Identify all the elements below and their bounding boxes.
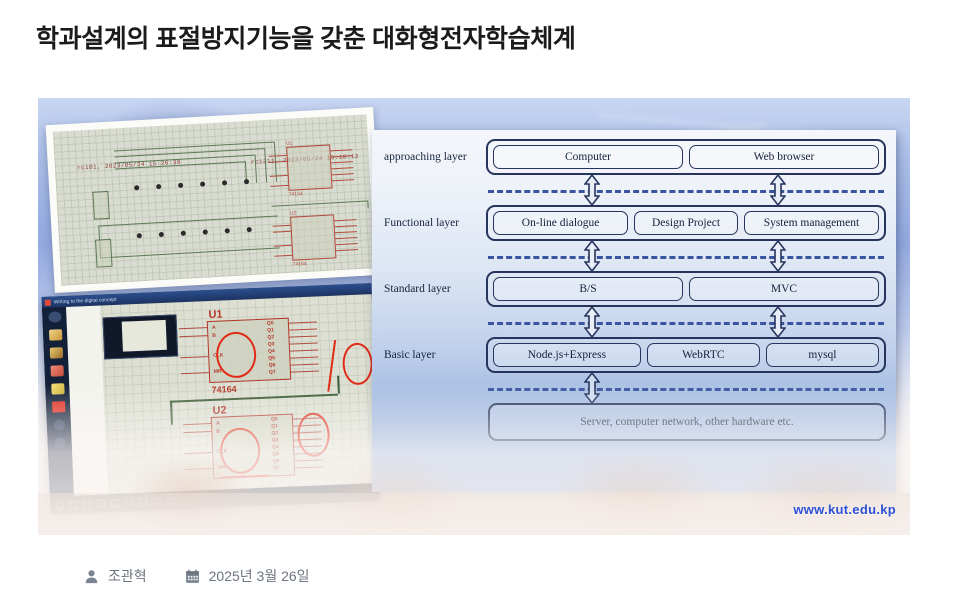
- dashed-separator-line: [488, 388, 884, 391]
- node-bs[interactable]: B/S: [493, 277, 683, 301]
- schematic-chip-u2: [290, 214, 336, 260]
- dashed-separator-line: [488, 190, 884, 193]
- chip-u2-output-q2: Q2: [271, 430, 278, 436]
- layer-row-approaching: approaching layer Computer Web browser: [382, 139, 886, 175]
- schematic-wire: [334, 219, 356, 221]
- zoom-in-tool-icon[interactable]: [53, 419, 64, 430]
- chip-u2-output-q0: Q0: [271, 416, 278, 422]
- chip-u1-output-q7: Q7: [269, 369, 276, 375]
- calendar-icon: [185, 569, 200, 584]
- schematic-wire: [274, 245, 292, 247]
- pen-tool-icon[interactable]: [48, 329, 61, 341]
- schematic-node: [203, 229, 208, 234]
- layer-group-basic: Node.js+Express WebRTC mysql: [486, 337, 886, 373]
- schematic-node: [225, 228, 230, 233]
- schematic-node: [244, 179, 249, 184]
- pencil-tool-icon[interactable]: [49, 347, 62, 359]
- schematic-node: [247, 227, 252, 232]
- schematic-canvas: rc101, 2023/05/24 15:26:30 rc1211, 2023/…: [53, 114, 375, 285]
- chip-wire: [290, 349, 318, 351]
- node-web-browser[interactable]: Web browser: [689, 145, 879, 169]
- schematic-node: [178, 183, 183, 188]
- chip-wire: [184, 452, 212, 454]
- node-webrtc[interactable]: WebRTC: [647, 343, 760, 367]
- schematic-wire: [335, 231, 357, 233]
- chip-u2-input-a: A: [216, 421, 220, 427]
- node-online-dialogue[interactable]: On-line dialogue: [493, 211, 628, 235]
- schematic-wire: [335, 237, 357, 239]
- layer-label-functional: Functional layer: [382, 217, 486, 229]
- home-icon[interactable]: [55, 501, 63, 509]
- chip-wire: [291, 363, 319, 365]
- site-watermark: www.kut.edu.kp: [793, 502, 896, 517]
- chip-wire: [181, 372, 209, 374]
- chip-wire: [180, 356, 208, 358]
- chip-wire: [179, 335, 207, 337]
- chip-u1-output-q2: Q2: [267, 334, 274, 340]
- schematic-chip-u1-label: U1: [286, 141, 293, 147]
- node-nodejs-express[interactable]: Node.js+Express: [493, 343, 641, 367]
- chip-u2-input-b: B: [216, 429, 220, 435]
- chip-feedback-wire: [337, 376, 339, 394]
- comment-icon[interactable]: [153, 497, 161, 505]
- double-headed-vertical-arrow-icon: [584, 241, 600, 271]
- schematic-node: [200, 181, 205, 186]
- layer-group-functional: On-line dialogue Design Project System m…: [486, 205, 886, 241]
- dashed-separator-line: [488, 256, 884, 259]
- layer-group-standard: B/S MVC: [486, 271, 886, 307]
- schematic-node: [134, 185, 139, 190]
- divider-standard-basic: [382, 307, 886, 337]
- schematic-wire: [335, 225, 357, 227]
- schematic-chip: [92, 191, 110, 220]
- node-server-infrastructure[interactable]: Server, computer network, other hardware…: [488, 403, 886, 441]
- schematic-node: [156, 184, 161, 189]
- chip-u2-output-q1: Q1: [271, 423, 278, 429]
- date-meta: 2025년 3월 26일: [185, 566, 310, 586]
- chip-u1-output-q3: Q3: [268, 341, 275, 347]
- page-title: 학과설계의 표절방지기능을 갖춘 대화형전자학습체계: [36, 22, 926, 56]
- double-headed-vertical-arrow-icon: [770, 175, 786, 205]
- grid-icon[interactable]: [111, 499, 119, 507]
- annotation-ellipse: [297, 412, 331, 457]
- schematic-chip-u2-part: 74164: [293, 261, 307, 268]
- schematic-wire: [271, 200, 367, 206]
- color-swatch-tool-icon[interactable]: [51, 401, 64, 413]
- layer-row-standard: Standard layer B/S MVC: [382, 271, 886, 307]
- whiteboard-chip-u2-label: U2: [212, 404, 227, 417]
- highlighter-tool-icon[interactable]: [51, 383, 64, 395]
- chip-wire: [289, 335, 317, 337]
- layer-row-basic: Basic layer Node.js+Express WebRTC mysql: [382, 337, 886, 373]
- chip-wire: [183, 431, 211, 433]
- schematic-wire: [270, 185, 288, 187]
- whiteboard-thumbnail-preview[interactable]: [102, 314, 178, 359]
- layer-label-basic: Basic layer: [382, 349, 486, 361]
- layer-group-approaching: Computer Web browser: [486, 139, 886, 175]
- chip-wire: [295, 466, 323, 468]
- whiteboard-chip-u1-part: 74164: [211, 384, 236, 395]
- chip-u1-output-q5: Q5: [268, 355, 275, 361]
- whiteboard-body: U1 A B CLK MR Q0 Q1 Q2 Q3 Q4 Q5 Q6 Q7 74…: [42, 294, 380, 497]
- schematic-wire: [336, 249, 358, 251]
- schematic-node: [159, 232, 164, 237]
- chip-u2-output-q6: Q6: [273, 458, 280, 464]
- schematic-wire: [332, 173, 354, 175]
- chip-wire: [289, 321, 317, 323]
- node-design-project[interactable]: Design Project: [634, 211, 738, 235]
- chip-feedback-wire: [170, 401, 173, 425]
- whiteboard-window-title: Writing to the digital concept: [54, 296, 117, 305]
- schematic-wire: [367, 200, 368, 208]
- chip-u1-output-q4: Q4: [268, 348, 275, 354]
- eraser-tool-icon[interactable]: [50, 365, 63, 377]
- layer-label-approaching: approaching layer: [382, 151, 486, 163]
- chip-wire: [295, 459, 323, 461]
- whiteboard-side-panel: [66, 306, 108, 496]
- slide-photo: rc101, 2023/05/24 15:26:30 rc1211, 2023/…: [38, 98, 910, 535]
- chip-wire: [179, 327, 207, 329]
- author-meta: 조관혁: [84, 566, 147, 586]
- schematic-wire: [331, 161, 353, 163]
- schematic-chip-u1: [286, 144, 332, 190]
- author-name: 조관혁: [108, 566, 147, 586]
- chip-u1-input-a: A: [212, 325, 216, 331]
- node-computer[interactable]: Computer: [493, 145, 683, 169]
- schematic-chip-u2-label: U2: [290, 210, 297, 216]
- schematic-wire: [332, 179, 354, 181]
- architecture-diagram: approaching layer Computer Web browser F…: [372, 130, 896, 492]
- thumbnail-image: [122, 320, 167, 352]
- schematic-wire: [98, 215, 278, 226]
- schematic-wire: [273, 231, 291, 233]
- chip-u2-output-q7: Q7: [273, 465, 280, 471]
- zoom-out-tool-icon[interactable]: [54, 437, 65, 448]
- chip-wire: [185, 468, 213, 470]
- play-icon[interactable]: [125, 498, 133, 506]
- settings-icon[interactable]: [69, 501, 77, 509]
- schematic-wire: [270, 175, 288, 177]
- node-mysql[interactable]: mysql: [766, 343, 879, 367]
- schematic-wire: [331, 167, 353, 169]
- chip-u1-output-q1: Q1: [267, 327, 274, 333]
- schematic-wire: [264, 148, 267, 182]
- whiteboard-chip-u1-label: U1: [208, 308, 223, 321]
- chip-wire: [183, 423, 211, 425]
- schematic-wire: [273, 225, 291, 227]
- publish-date: 2025년 3월 26일: [209, 566, 310, 586]
- select-tool-icon[interactable]: [48, 311, 61, 323]
- annotation-stroke: [327, 340, 336, 392]
- save-icon[interactable]: [83, 500, 91, 508]
- app-icon: [45, 299, 51, 305]
- page-icon[interactable]: [97, 500, 105, 508]
- chip-u1-input-b: B: [212, 333, 216, 339]
- keyboard-icon[interactable]: [139, 498, 147, 506]
- double-headed-vertical-arrow-icon: [584, 373, 600, 403]
- schematic-chip: [95, 239, 113, 268]
- schematic-wire: [336, 243, 358, 245]
- schematic-wire: [330, 149, 352, 151]
- layer-label-standard: Standard layer: [382, 283, 486, 295]
- chip-u2-output-q4: Q4: [272, 444, 279, 450]
- whiteboard-app-window: Writing to the digital concept U1: [42, 283, 381, 515]
- chip-u1-output-q6: Q6: [269, 362, 276, 368]
- annotation-ellipse: [342, 342, 374, 385]
- schematic-node: [222, 180, 227, 185]
- schematic-node: [181, 231, 186, 236]
- chip-u2-output-q5: Q5: [272, 451, 279, 457]
- schematic-chip-u1-part: 74164: [289, 191, 303, 198]
- schematic-wire: [114, 142, 274, 152]
- node-system-management[interactable]: System management: [744, 211, 879, 235]
- double-headed-vertical-arrow-icon: [584, 307, 600, 337]
- divider-functional-standard: [382, 241, 886, 271]
- double-headed-vertical-arrow-icon: [770, 307, 786, 337]
- schematic-wire: [100, 247, 280, 258]
- double-headed-vertical-arrow-icon: [584, 175, 600, 205]
- layer-row-functional: Functional layer On-line dialogue Design…: [382, 205, 886, 241]
- person-icon: [84, 569, 99, 584]
- whiteboard-canvas[interactable]: U1 A B CLK MR Q0 Q1 Q2 Q3 Q4 Q5 Q6 Q7 74…: [66, 294, 380, 496]
- schematic-printout-photo: rc101, 2023/05/24 15:26:30 rc1211, 2023/…: [46, 107, 383, 293]
- divider-basic-foundation: [382, 373, 886, 403]
- node-mvc[interactable]: MVC: [689, 277, 879, 301]
- chip-wire: [290, 342, 318, 344]
- chip-u2-output-q3: Q3: [272, 437, 279, 443]
- divider-approaching-functional: [382, 175, 886, 205]
- article-metadata: 조관혁 2025년 3월 26일: [84, 566, 310, 586]
- chip-wire: [289, 328, 317, 330]
- chip-wire: [291, 370, 319, 372]
- dashed-separator-line: [488, 322, 884, 325]
- schematic-wire: [274, 255, 292, 257]
- double-headed-vertical-arrow-icon: [770, 241, 786, 271]
- schematic-node: [137, 233, 142, 238]
- star-icon[interactable]: [167, 497, 175, 505]
- chip-u1-output-q0: Q0: [267, 320, 274, 326]
- chip-feedback-wire: [170, 394, 338, 403]
- chip-wire: [290, 356, 318, 358]
